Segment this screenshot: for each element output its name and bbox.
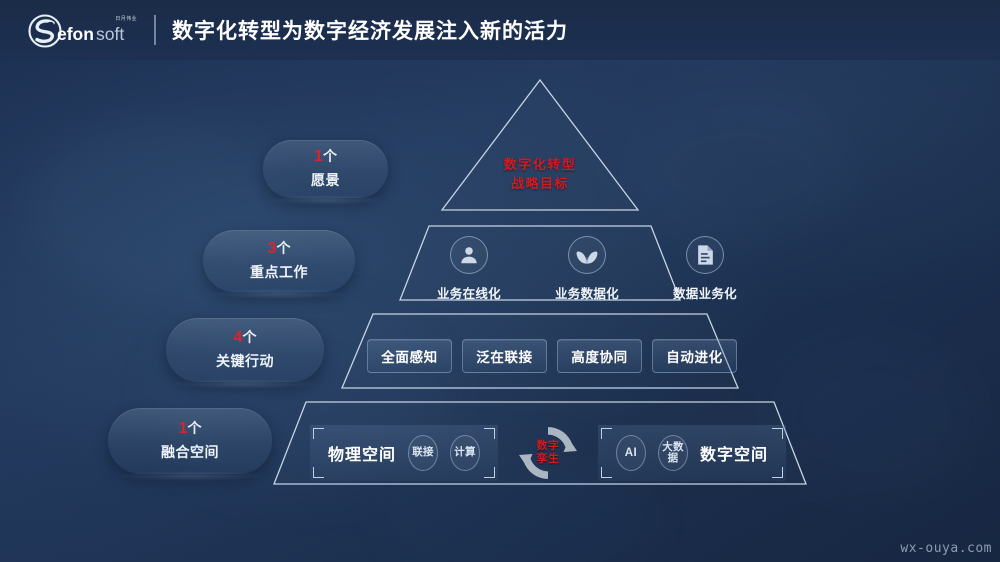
- digital-twin-line2: 孪生: [537, 453, 560, 466]
- svg-text:soft: soft: [96, 24, 124, 44]
- tier-label-key-actions-text: 关键行动: [216, 351, 274, 371]
- header-bar: efon soft 日月伟业 数字化转型为数字经济发展注入新的活力: [0, 0, 1000, 60]
- tier-label-fusion-space-count: 1个: [179, 421, 202, 437]
- tier-label-key-actions[interactable]: 4个 关键行动: [166, 318, 324, 382]
- slide-canvas: efon soft 日月伟业 数字化转型为数字经济发展注入新的活力 数字化转型: [0, 0, 1000, 562]
- action-chip-collaboration[interactable]: 高度协同: [557, 339, 642, 373]
- svg-text:efon: efon: [57, 24, 94, 44]
- document-icon: [686, 236, 724, 274]
- digital-space-panel[interactable]: AI 大数据 数字空间: [598, 425, 786, 481]
- action-chip-evolution[interactable]: 自动进化: [652, 339, 737, 373]
- digital-space-title: 数字空间: [700, 441, 768, 465]
- corner-bracket-bl: [313, 467, 324, 478]
- tier-label-vision-text: 愿景: [311, 170, 340, 190]
- site-watermark: wx-ouya.com: [900, 541, 992, 556]
- digital-twin-cycle: 数字 孪生: [516, 421, 580, 485]
- page-title: 数字化转型为数字经济发展注入新的活力: [172, 15, 568, 45]
- leaf-icon: [568, 236, 606, 274]
- digital-space-tag-ai[interactable]: AI: [616, 435, 646, 471]
- key-work-label-online: 业务在线化: [437, 283, 501, 302]
- company-logo: efon soft 日月伟业: [26, 11, 138, 49]
- corner-bracket-tr: [772, 428, 783, 439]
- strategic-goal-line2: 战略目标: [480, 175, 600, 194]
- tier-label-fusion-space-text: 融合空间: [161, 442, 219, 462]
- action-chip-connection[interactable]: 泛在联接: [462, 339, 547, 373]
- fusion-space-row: 物理空间 联接 计算 数字 孪生: [310, 421, 786, 485]
- physical-space-tag-compute[interactable]: 计算: [450, 435, 480, 471]
- corner-bracket-bl: [601, 467, 612, 478]
- tier-label-vision-count: 1个: [314, 149, 337, 165]
- corner-bracket-tr: [484, 428, 495, 439]
- key-work-icon-row: 业务在线化 业务数据化 数据: [427, 236, 747, 302]
- corner-bracket-tl: [601, 428, 612, 439]
- strategic-goal-line1: 数字化转型: [480, 156, 600, 175]
- key-actions-chip-row: 全面感知 泛在联接 高度协同 自动进化: [367, 339, 737, 373]
- tier-label-key-actions-count: 4个: [234, 330, 257, 346]
- user-icon: [450, 236, 488, 274]
- tier-label-key-work[interactable]: 3个 重点工作: [203, 230, 355, 292]
- physical-space-tag-connection[interactable]: 联接: [408, 435, 438, 471]
- digital-twin-text: 数字 孪生: [537, 440, 560, 465]
- action-chip-perception[interactable]: 全面感知: [367, 339, 452, 373]
- logo-chinese-name: 日月伟业: [115, 15, 137, 22]
- physical-space-panel[interactable]: 物理空间 联接 计算: [310, 425, 498, 481]
- digital-twin-line1: 数字: [537, 440, 560, 453]
- tier-label-key-work-count: 3个: [268, 241, 291, 257]
- key-work-item-datafy[interactable]: 业务数据化: [545, 236, 629, 302]
- key-work-item-dataservice[interactable]: 数据业务化: [663, 236, 747, 302]
- strategic-goal-text: 数字化转型 战略目标: [480, 156, 600, 194]
- header-divider: [154, 15, 156, 45]
- corner-bracket-tl: [313, 428, 324, 439]
- key-work-label-datafy: 业务数据化: [555, 283, 619, 302]
- tier-label-vision[interactable]: 1个 愿景: [263, 140, 388, 198]
- digital-space-tag-bigdata[interactable]: 大数据: [658, 435, 688, 471]
- tier-label-key-work-text: 重点工作: [250, 262, 308, 282]
- key-work-item-online[interactable]: 业务在线化: [427, 236, 511, 302]
- corner-bracket-br: [484, 467, 495, 478]
- corner-bracket-br: [772, 467, 783, 478]
- tier-label-fusion-space[interactable]: 1个 融合空间: [108, 408, 272, 474]
- physical-space-title: 物理空间: [328, 441, 396, 465]
- key-work-label-dataservice: 数据业务化: [673, 283, 737, 302]
